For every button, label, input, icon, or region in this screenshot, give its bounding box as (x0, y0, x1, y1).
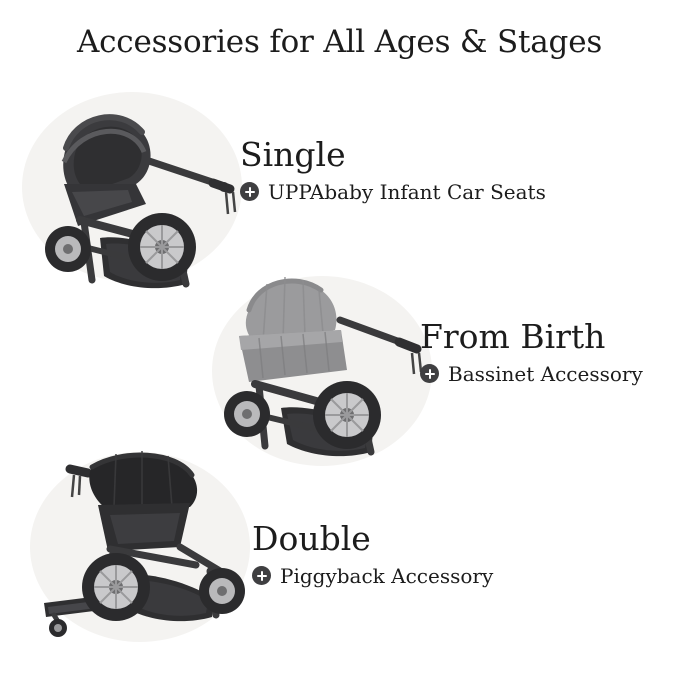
block-subtitle-double-row: Piggyback Accessory (252, 564, 493, 588)
plus-icon (240, 182, 259, 201)
block-subtitle-double: Piggyback Accessory (280, 564, 493, 588)
illustration-stroller-piggyback (30, 425, 280, 645)
block-title-from-birth: From Birth (420, 320, 643, 355)
block-double: Double Piggyback Accessory (252, 522, 493, 588)
page-title: Accessories for All Ages & Stages (0, 24, 679, 60)
plus-icon (420, 364, 439, 383)
poster-canvas: Accessories for All Ages & Stages (0, 0, 679, 679)
block-subtitle-single: UPPAbaby Infant Car Seats (268, 180, 546, 204)
block-title-double: Double (252, 522, 493, 557)
block-subtitle-from-birth-row: Bassinet Accessory (420, 362, 643, 386)
block-subtitle-from-birth: Bassinet Accessory (448, 362, 643, 386)
block-single: Single UPPAbaby Infant Car Seats (240, 138, 546, 204)
block-from-birth: From Birth Bassinet Accessory (420, 320, 643, 386)
plus-icon (252, 566, 271, 585)
block-subtitle-single-row: UPPAbaby Infant Car Seats (240, 180, 546, 204)
block-title-single: Single (240, 138, 546, 173)
